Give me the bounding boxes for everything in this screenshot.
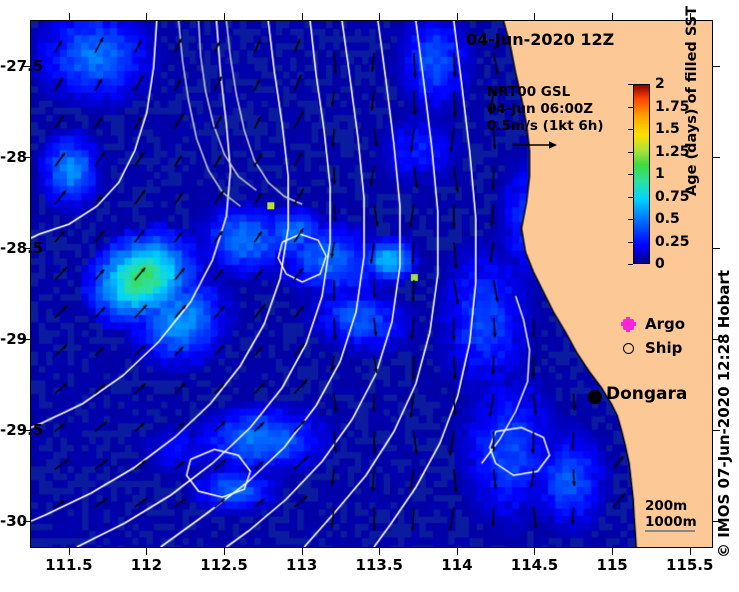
x-axis-tick: [302, 548, 303, 555]
x-axis-tick: [146, 13, 147, 20]
vector-legend-line1: NRT00 GSL: [487, 84, 570, 100]
colorbar-tick: [628, 174, 633, 175]
x-axis-tick-label: 112.5: [200, 556, 247, 574]
colorbar-tick-label: 2: [655, 76, 665, 92]
y-axis-tick-label: -29: [0, 330, 26, 348]
x-axis-tick: [146, 548, 147, 555]
sst-age-heatmap-canvas: [31, 21, 712, 547]
scalebar-label-200m: 200m: [645, 498, 687, 514]
colorbar[interactable]: 00.250.50.7511.251.51.752: [633, 84, 650, 264]
vector-legend-line3: 0.5m/s (1kt 6h): [487, 118, 604, 134]
x-axis-tick: [379, 13, 380, 20]
x-axis-tick: [612, 548, 613, 555]
argo-marker-icon: [617, 319, 639, 330]
colorbar-tick: [628, 84, 633, 85]
colorbar-tick: [628, 219, 633, 220]
copyright-text: © IMOS 07-Jun-2020 12:28 Hobart: [715, 270, 733, 558]
x-axis-tick: [379, 548, 380, 555]
x-axis-tick-label: 114.5: [511, 556, 558, 574]
current-vector-legend: NRT00 GSL 04-Jun 06:00Z 0.5m/s (1kt 6h): [487, 84, 604, 135]
colorbar-tick: [628, 242, 633, 243]
y-axis-tick: [713, 66, 720, 67]
ship-marker-icon: [617, 343, 639, 354]
colorbar-tick: [628, 197, 633, 198]
x-axis-tick-label: 115: [596, 556, 627, 574]
x-axis-tick: [534, 548, 535, 555]
y-axis-tick-label: -28: [0, 148, 26, 166]
map-plot-area[interactable]: [30, 20, 713, 548]
y-axis-tick-label: -29.5: [0, 421, 26, 439]
colorbar-tick-label: 1: [655, 166, 665, 182]
x-axis-tick: [224, 13, 225, 20]
x-axis-tick: [69, 13, 70, 20]
x-axis-tick-label: 111.5: [45, 556, 92, 574]
legend-label-ship: Ship: [645, 339, 682, 357]
observation-legend: Argo Ship: [617, 312, 685, 360]
y-axis-tick-label: -30: [0, 512, 26, 530]
colorbar-tick: [628, 129, 633, 130]
dongara-marker-dot: [588, 390, 602, 404]
x-axis-tick-label: 114: [441, 556, 472, 574]
map-title-date: 04-Jun-2020 12Z: [466, 30, 614, 49]
vector-legend-line2: 04-Jun 06:00Z: [487, 101, 593, 117]
legend-item-ship[interactable]: Ship: [617, 336, 685, 360]
colorbar-tick-label: 0: [655, 256, 665, 272]
vector-scale-arrow-icon: [512, 138, 558, 152]
x-axis-tick: [224, 548, 225, 555]
legend-item-argo[interactable]: Argo: [617, 312, 685, 336]
colorbar-tick-label: 1.5: [655, 121, 680, 137]
scalebar-label-1000m: 1000m: [645, 514, 697, 530]
x-axis-tick-label: 113.5: [356, 556, 403, 574]
y-axis-tick: [713, 248, 720, 249]
y-axis-tick: [713, 157, 720, 158]
scalebar-rule: [645, 530, 695, 532]
x-axis-tick: [457, 13, 458, 20]
colorbar-axis-title: Age (days) of filled SST (wrt latest): [684, 0, 700, 196]
x-axis-tick: [534, 13, 535, 20]
x-axis-tick-label: 112: [131, 556, 162, 574]
x-axis-tick: [690, 548, 691, 555]
dongara-place-label: Dongara: [606, 384, 687, 404]
colorbar-tick-label: 0.5: [655, 211, 680, 227]
y-axis-tick-label: -28.5: [0, 239, 26, 257]
x-axis-tick: [69, 548, 70, 555]
colorbar-gradient: [633, 84, 650, 264]
x-axis-tick-label: 113: [286, 556, 317, 574]
y-axis-tick-label: -27.5: [0, 57, 26, 75]
x-axis-tick: [457, 548, 458, 555]
x-axis-tick: [612, 13, 613, 20]
colorbar-tick: [628, 152, 633, 153]
colorbar-tick: [628, 264, 633, 265]
x-axis-tick: [302, 13, 303, 20]
colorbar-tick: [628, 107, 633, 108]
colorbar-tick-label: 0.25: [655, 234, 690, 250]
x-axis-tick-label: 115.5: [666, 556, 713, 574]
legend-label-argo: Argo: [645, 315, 685, 333]
